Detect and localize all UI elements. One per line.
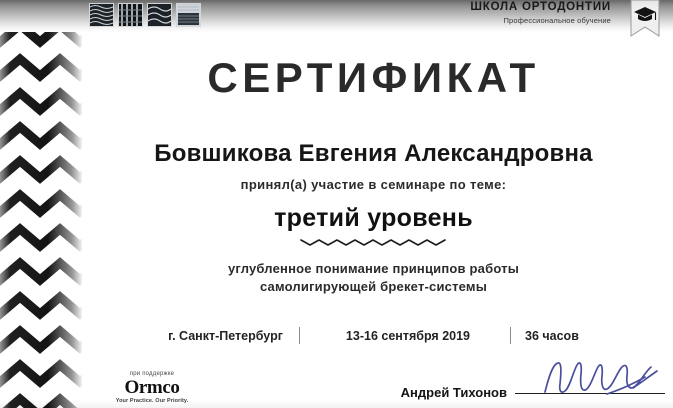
meta-dates: 13-16 сентября 2019 bbox=[346, 329, 470, 343]
page-title: СЕРТИФИКАТ bbox=[82, 54, 665, 102]
brand-block: ШКОЛА ОРТОДОНТИИ Профессиональное обучен… bbox=[470, 2, 611, 24]
sponsor-tagline: Your Practice. Our Priority. bbox=[104, 398, 200, 404]
sponsor-name: Ormco bbox=[104, 378, 200, 397]
signature-area bbox=[515, 358, 665, 402]
certificate-canvas: ШКОЛА ОРТОДОНТИИ Профессиональное обучен… bbox=[0, 0, 673, 408]
recipient-name: Бовшикова Евгения Александровна bbox=[82, 140, 665, 168]
handwritten-signature-icon bbox=[541, 358, 661, 400]
meta-city: г. Санкт-Петербург bbox=[168, 329, 283, 343]
header-bar-inner: ШКОЛА ОРТОДОНТИИ Профессиональное обучен… bbox=[0, 0, 673, 32]
wave-pattern-thumbnail-3 bbox=[147, 3, 172, 27]
course-title: третий уровень bbox=[82, 204, 665, 233]
wave-pattern-thumbnail-1 bbox=[89, 3, 114, 27]
course-description-line-2: самолигирующей брекет-системы bbox=[82, 278, 665, 296]
meta-separator-2 bbox=[510, 327, 511, 344]
brand-title: ШКОЛА ОРТОДОНТИИ bbox=[470, 2, 611, 14]
pattern-icon-group bbox=[89, 3, 201, 27]
meta-hours: 36 часов bbox=[525, 329, 579, 343]
squiggle-divider bbox=[82, 236, 665, 248]
certificate-body: СЕРТИФИКАТ Бовшикова Евгения Александров… bbox=[82, 32, 673, 408]
header-bar: ШКОЛА ОРТОДОНТИИ Профессиональное обучен… bbox=[0, 0, 673, 32]
grid-pattern-thumbnail-2 bbox=[118, 3, 143, 27]
meta-row: г. Санкт-Петербург 13-16 сентября 2019 3… bbox=[82, 327, 665, 344]
meta-separator-1 bbox=[299, 327, 300, 344]
brand-subtitle: Профессиональное обучение bbox=[470, 17, 611, 25]
course-description-line-1: углубленное понимание принципов работы bbox=[82, 260, 665, 278]
texture-pattern-thumbnail-4 bbox=[176, 3, 201, 27]
signer-name: Андрей Тихонов bbox=[401, 385, 507, 402]
course-description: углубленное понимание принципов работы с… bbox=[82, 260, 665, 296]
sponsor-logo-block: при поддержке Ormco Your Practice. Our P… bbox=[104, 371, 200, 404]
chevron-decoration-band bbox=[0, 0, 82, 408]
participation-line: принял(а) участие в семинаре по теме: bbox=[82, 177, 665, 192]
signature-block: Андрей Тихонов bbox=[401, 358, 665, 402]
